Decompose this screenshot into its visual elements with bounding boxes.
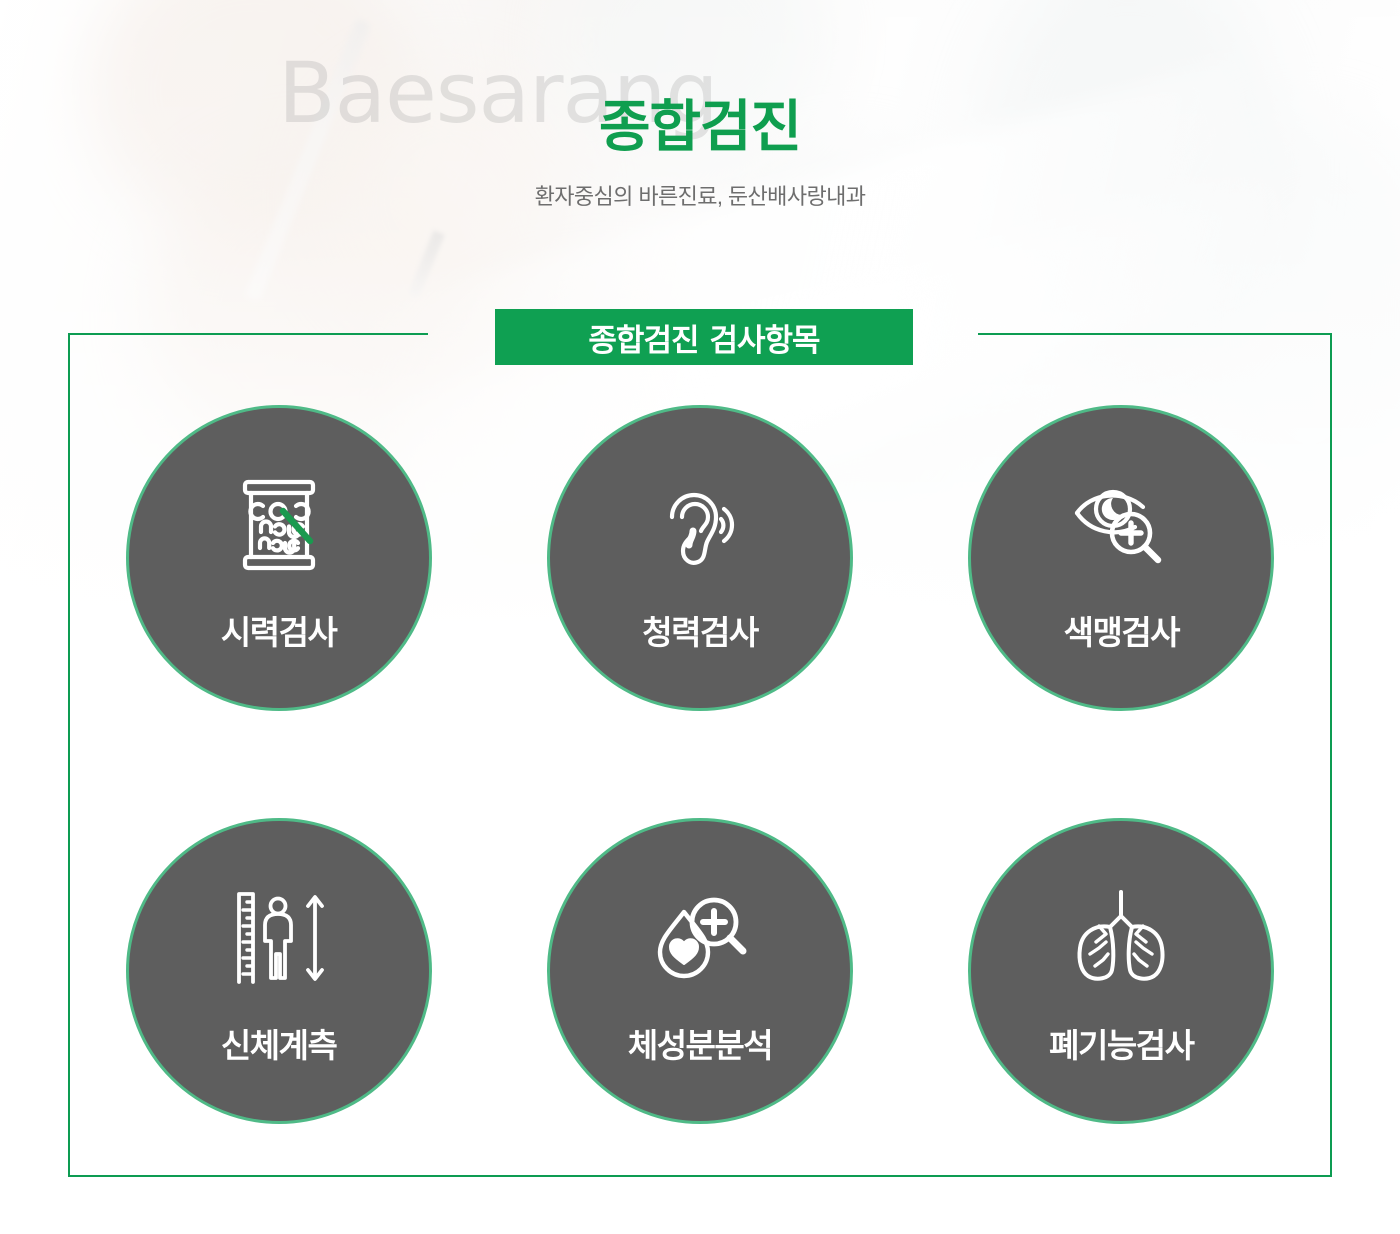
- page-header: 종합검진 환자중심의 바른진료, 둔산배사랑내과: [0, 0, 1400, 211]
- exam-items-grid: 시력검사 청력검사: [68, 333, 1332, 1177]
- exam-item-label: 폐기능검사: [1049, 1019, 1193, 1067]
- exam-item-hearing-test[interactable]: 청력검사: [547, 405, 853, 711]
- exam-item-label: 신체계측: [221, 1019, 336, 1067]
- exam-item-vision-test[interactable]: 시력검사: [126, 405, 432, 711]
- blood-drop-heart-magnifier-icon: [630, 879, 770, 997]
- page-title: 종합검진: [0, 98, 1400, 157]
- exam-item-lung-function-test[interactable]: 폐기능검사: [968, 818, 1274, 1124]
- eye-chart-icon: [209, 466, 349, 584]
- exam-item-body-measurement[interactable]: 신체계측: [126, 818, 432, 1124]
- exam-item-body-composition-analysis[interactable]: 체성분분석: [547, 818, 853, 1124]
- eye-magnifier-plus-icon: [1051, 466, 1191, 584]
- ruler-person-height-icon: [209, 879, 349, 997]
- exam-item-label: 색맹검사: [1064, 606, 1179, 654]
- exam-item-label: 시력검사: [221, 606, 336, 654]
- exam-item-label: 체성분분석: [628, 1019, 772, 1067]
- exam-items-panel: 종합검진 검사항목: [68, 333, 1332, 1177]
- lungs-icon: [1051, 879, 1191, 997]
- page-subtitle: 환자중심의 바른진료, 둔산배사랑내과: [0, 179, 1400, 211]
- page-root: Baesarang 종합검진 환자중심의 바른진료, 둔산배사랑내과 종합검진 …: [0, 0, 1400, 1234]
- ear-soundwave-icon: [630, 466, 770, 584]
- exam-item-label: 청력검사: [642, 606, 757, 654]
- exam-item-color-blindness-test[interactable]: 색맹검사: [968, 405, 1274, 711]
